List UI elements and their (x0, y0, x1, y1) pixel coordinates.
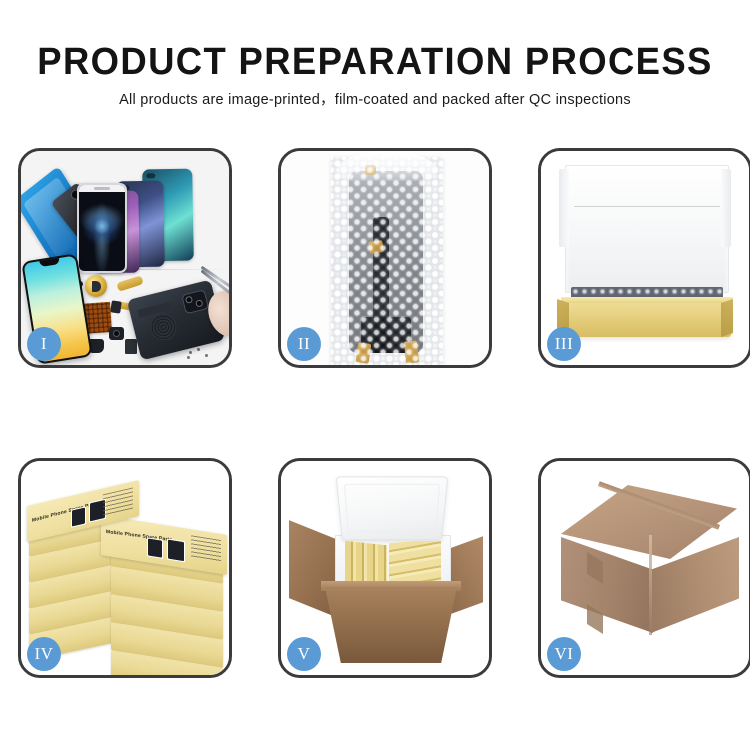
protector-top-edge-icon (79, 185, 125, 192)
camera-pill-icon (146, 173, 155, 178)
memory-card-icon (125, 339, 137, 354)
gold-contact-tab-icon (368, 240, 384, 254)
connector-block-icon (110, 300, 122, 313)
step-badge-2: II (287, 327, 321, 361)
spec-text-lines-icon (103, 487, 133, 516)
foam-lid-open-icon (336, 476, 448, 540)
bubble-wrap-bag-icon (331, 157, 443, 365)
carton-front-panel-icon (325, 587, 457, 663)
step-badge-5: V (287, 637, 321, 671)
process-step-panel-2[interactable]: II (278, 148, 492, 368)
yellow-box-row-right (389, 541, 441, 585)
rear-camera-module-icon (181, 289, 209, 314)
process-step-panel-5[interactable]: V (278, 458, 492, 678)
carton-vertical-edge-icon (649, 535, 652, 635)
foam-side-left-icon (559, 169, 569, 247)
product-photo-icon (167, 538, 185, 562)
gold-contact-tab-icon (356, 342, 372, 364)
front-camera-icon (109, 327, 124, 340)
step-badge-1: I (27, 327, 61, 361)
yellow-boxes-inside-icon (345, 541, 441, 585)
foam-crease-icon (574, 206, 720, 207)
process-step-panel-4[interactable]: Mobile Phone Spare Parts Mobile Phone Sp… (18, 458, 232, 678)
process-step-panel-1[interactable]: I (18, 148, 232, 368)
wireless-charging-coil-icon (148, 312, 180, 344)
foam-sheet-icon (565, 165, 729, 293)
gold-contact-tab-icon (404, 340, 419, 363)
step-badge-4: IV (27, 637, 61, 671)
process-step-panel-6[interactable]: VI (538, 458, 750, 678)
tempered-glass-protector-icon (77, 183, 127, 273)
yellow-box-row-left (345, 541, 387, 585)
wallpaper-graphic-icon (79, 185, 125, 271)
process-step-panel-3[interactable]: III (538, 148, 750, 368)
step-badge-3: III (547, 327, 581, 361)
kraft-box-side-right-icon (721, 299, 733, 337)
speaker-coil-gold-icon (85, 275, 107, 297)
step-badge-6: VI (547, 637, 581, 671)
spec-text-lines-icon (191, 535, 221, 562)
product-photo-icon (71, 506, 86, 527)
foam-side-right-icon (721, 169, 731, 247)
product-photo-icon (147, 537, 163, 559)
kraft-box-front-icon (563, 303, 731, 337)
process-step-grid: I II (0, 0, 750, 750)
